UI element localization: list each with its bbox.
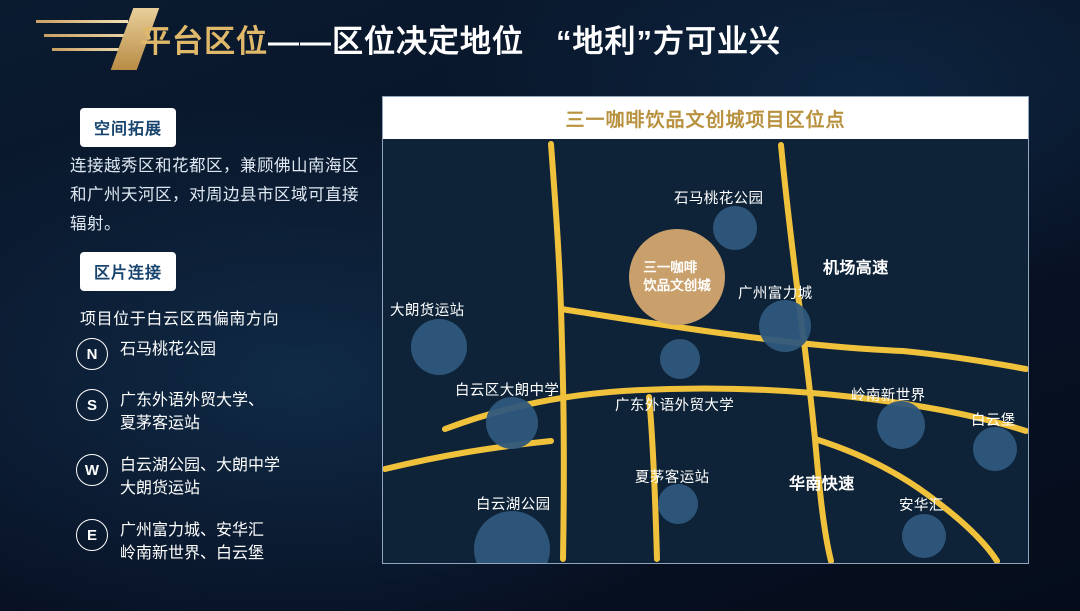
direction-legend: N 石马桃花公园 S 广东外语外贸大学、 夏茅客运站 W 白云湖公园、大朗中学 … (76, 336, 376, 582)
label-baiyun-fort: 白云堡 (971, 409, 1016, 430)
map-panel: 三一咖啡饮品文创城项目区位点 三一咖啡 饮品文创城 (382, 96, 1029, 564)
label-gdufs: 广东外语外贸大学 (615, 394, 734, 415)
label-shima-taohua-park: 石马桃花公园 (674, 187, 763, 208)
space-expansion-paragraph: 连接越秀区和花都区，兼顾佛山南海区和广州天河区，对周边县市区域可直接辐射。 (70, 152, 370, 239)
page-title-highlight: 平台区位 (140, 24, 268, 59)
page-title-rest: ——区位决定地位 “地利”方可业兴 (268, 24, 781, 59)
legend-text-west: 白云湖公园、大朗中学 大朗货运站 (120, 452, 280, 500)
list-item: W 白云湖公园、大朗中学 大朗货运站 (76, 452, 376, 500)
badge-north-icon: N (76, 338, 108, 370)
project-direction-subtitle: 项目位于白云区西偏南方向 (80, 305, 279, 329)
map-canvas[interactable]: 三一咖啡 饮品文创城 石马桃花公园 机场高速 广州富力城 大朗货运站 白云区大朗… (383, 139, 1028, 563)
dot-xiamao-bus-station[interactable] (658, 484, 698, 524)
dot-baiyun-dalang-middle-school[interactable] (486, 397, 538, 449)
dot-guangzhou-fuli-city[interactable] (759, 300, 811, 352)
label-xiamao-bus-station: 夏茅客运站 (635, 466, 710, 487)
label-lingnan-new-world: 岭南新世界 (851, 384, 926, 405)
badge-east-icon: E (76, 519, 108, 551)
label-south-china-expressway: 华南快速 (789, 470, 855, 494)
legend-text-north: 石马桃花公园 (120, 336, 216, 361)
dot-lingnan-new-world[interactable] (877, 401, 925, 449)
label-anhuahui: 安华汇 (899, 494, 944, 515)
list-item: E 广州富力城、安华汇 岭南新世界、白云堡 (76, 517, 376, 565)
dot-shima-taohua-park[interactable] (713, 206, 757, 250)
project-hub-marker[interactable]: 三一咖啡 饮品文创城 (629, 229, 725, 325)
list-item: S 广东外语外贸大学、 夏茅客运站 (76, 387, 376, 435)
label-guangzhou-fuli-city: 广州富力城 (738, 282, 813, 303)
tag-area-connection: 区片连接 (80, 252, 176, 291)
badge-west-icon: W (76, 454, 108, 486)
list-item: N 石马桃花公园 (76, 336, 376, 370)
badge-south-icon: S (76, 389, 108, 421)
label-airport-expressway: 机场高速 (823, 254, 889, 278)
page-header: 平台区位——区位决定地位 “地利”方可业兴 (0, 0, 1080, 80)
label-baiyun-lake-park: 白云湖公园 (476, 493, 551, 514)
dot-anhuahui[interactable] (902, 514, 946, 558)
legend-text-east: 广州富力城、安华汇 岭南新世界、白云堡 (120, 517, 264, 565)
page-title: 平台区位——区位决定地位 “地利”方可业兴 (140, 16, 781, 61)
label-dalang-freight-station: 大朗货运站 (390, 299, 465, 320)
map-title: 三一咖啡饮品文创城项目区位点 (383, 97, 1028, 139)
label-baiyun-dalang-middle-school: 白云区大朗中学 (455, 379, 559, 400)
dot-dalang-freight-station[interactable] (411, 319, 467, 375)
dot-gdufs[interactable] (660, 339, 700, 379)
dot-baiyun-fort[interactable] (973, 427, 1017, 471)
legend-text-south: 广东外语外贸大学、 夏茅客运站 (120, 387, 264, 435)
tag-space-expansion: 空间拓展 (80, 108, 176, 147)
